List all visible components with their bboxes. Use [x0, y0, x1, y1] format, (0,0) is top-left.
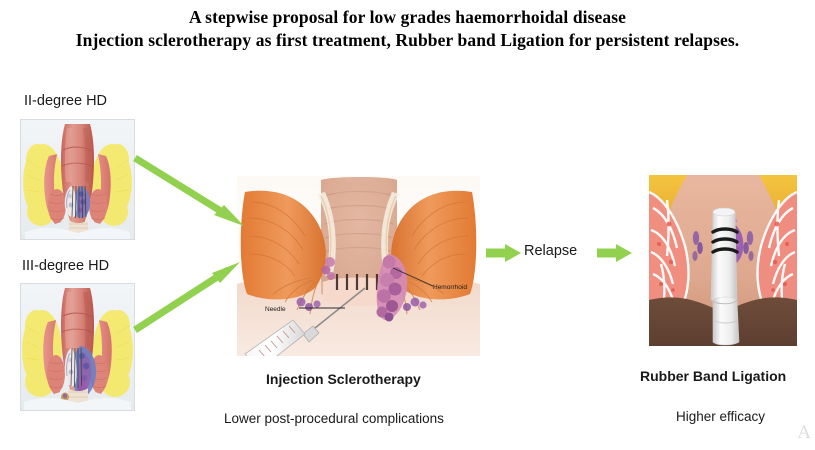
subcaption-lower-complications: Lower post-procedural complications [224, 411, 444, 426]
second-degree-hd-illustration [21, 120, 134, 239]
label-second-degree-hd: II-degree HD [24, 93, 107, 109]
figure-third-degree-hd [20, 283, 135, 411]
rubber-band-ligation-illustration [643, 172, 803, 349]
figure-second-degree-hd [20, 119, 135, 240]
title-line-1: A stepwise proposal for low grades haemo… [0, 6, 815, 29]
corner-artifact-glyph: A [797, 422, 811, 444]
arrow-up-right-icon [135, 262, 240, 330]
title-line-2: Injection sclerotherapy as first treatme… [0, 29, 815, 52]
caption-rubber-band-ligation: Rubber Band Ligation [640, 368, 786, 384]
injection-sclerotherapy-illustration: Needle Hemorrhoid [237, 176, 480, 356]
third-degree-hd-illustration [21, 284, 134, 410]
caption-injection-sclerotherapy: Injection Sclerotherapy [266, 371, 421, 387]
callout-needle-label: Needle [265, 306, 286, 313]
page-title: A stepwise proposal for low grades haemo… [0, 6, 815, 52]
label-third-degree-hd: III-degree HD [22, 258, 109, 274]
slide-canvas: A stepwise proposal for low grades haemo… [0, 0, 815, 450]
label-relapse: Relapse [524, 243, 577, 259]
figure-rubber-band-ligation [643, 172, 803, 349]
arrow-right-icon-2 [597, 244, 632, 262]
arrow-right-icon-1 [486, 244, 521, 262]
subcaption-higher-efficacy: Higher efficacy [676, 409, 765, 424]
callout-hemorrhoid-label: Hemorrhoid [433, 284, 467, 291]
arrow-down-right-icon [135, 158, 244, 226]
figure-injection-sclerotherapy: Needle Hemorrhoid [237, 176, 480, 356]
